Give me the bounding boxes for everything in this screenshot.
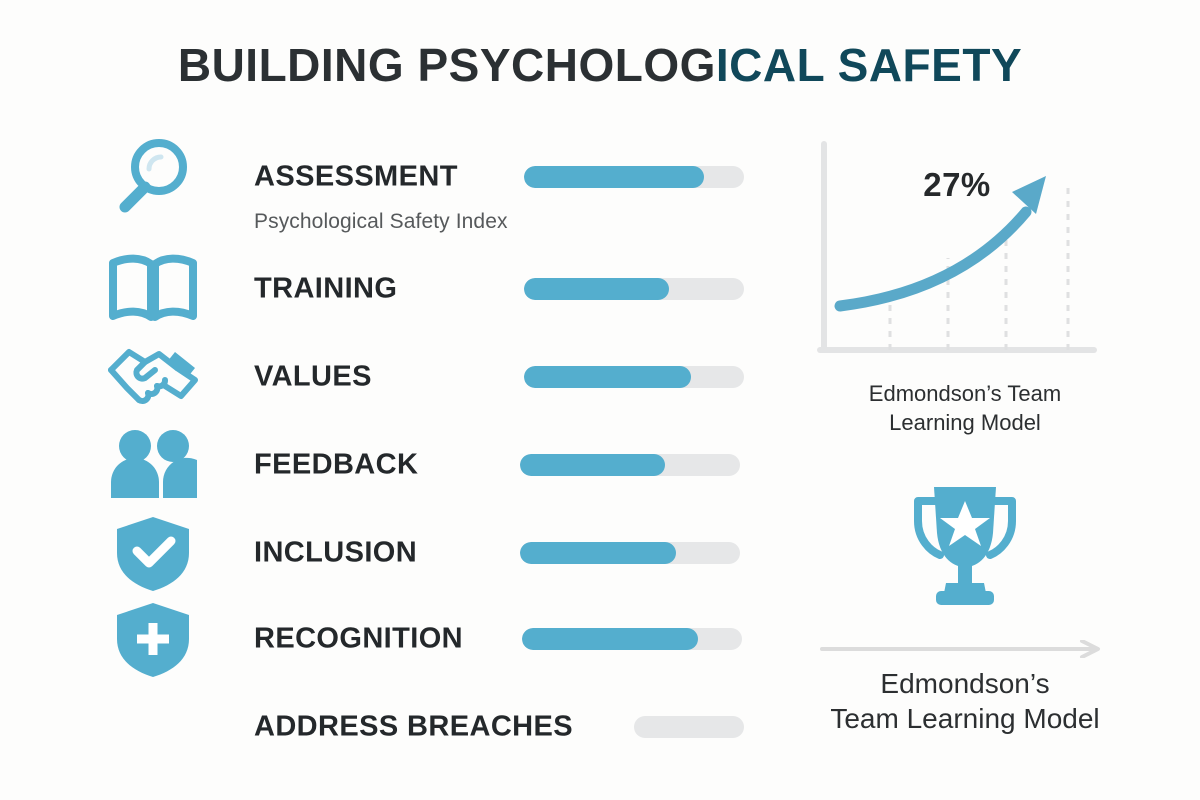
list-item-label: VALUES (254, 361, 372, 394)
list-item-label: TRAINING (254, 273, 397, 306)
list-item-values[interactable]: VALUES (98, 348, 758, 406)
handshake-icon (98, 338, 208, 416)
chart-gridlines (890, 188, 1068, 350)
progress-bar-assessment[interactable] (524, 166, 744, 188)
progress-bar-fill (524, 278, 669, 300)
growth-chart-caption: Edmondson’s Team Learning Model (800, 380, 1130, 437)
shield-check-icon (98, 514, 208, 592)
award-caption-line-2: Team Learning Model (795, 701, 1135, 736)
progress-bar-fill (524, 166, 704, 188)
page-title-part-dark: BUILDING PSYCHOLOG (178, 39, 716, 91)
magnifier-icon (98, 138, 208, 216)
practices-list: ASSESSMENT Psychological Safety Index TR… (98, 132, 758, 752)
page-title-part-accent: ICAL SAFETY (716, 39, 1022, 91)
progress-bar-inclusion[interactable] (520, 542, 740, 564)
progress-bar-feedback[interactable] (520, 454, 740, 476)
award-section (800, 477, 1130, 607)
open-book-icon (98, 250, 208, 328)
progress-bar-fill (520, 454, 665, 476)
right-arrow-icon (818, 640, 1108, 658)
growth-caption-line-1: Edmondson’s Team (800, 380, 1130, 409)
progress-bar-fill (524, 366, 691, 388)
list-item-training[interactable]: TRAINING (98, 260, 758, 318)
progress-bar-address-breaches[interactable] (634, 716, 744, 738)
growth-chart: 27% (814, 140, 1100, 362)
list-item-recognition[interactable]: RECOGNITION (98, 610, 758, 668)
award-caption-line-1: Edmondson’s (795, 666, 1135, 701)
list-item-inclusion[interactable]: INCLUSION (98, 524, 758, 582)
growth-caption-line-2: Learning Model (800, 409, 1130, 438)
page-title: BUILDING PSYCHOLOGICAL SAFETY (0, 42, 1200, 88)
progress-bar-training[interactable] (524, 278, 744, 300)
list-item-label: ASSESSMENT (254, 161, 458, 194)
growth-percent-label: 27% (814, 166, 1100, 204)
progress-bar-fill (522, 628, 698, 650)
list-item-sublabel: Psychological Safety Index (254, 210, 508, 234)
list-item-label: FEEDBACK (254, 449, 418, 482)
chart-growth-curve (840, 212, 1026, 306)
two-people-icon (98, 426, 208, 504)
award-caption: Edmondson’s Team Learning Model (795, 666, 1135, 736)
trophy-icon (906, 477, 1024, 607)
progress-bar-values[interactable] (524, 366, 744, 388)
list-item-address-breaches[interactable]: ADDRESS BREACHES (98, 698, 758, 756)
progress-bar-recognition[interactable] (522, 628, 742, 650)
list-item-feedback[interactable]: FEEDBACK (98, 436, 758, 494)
shield-plus-icon-recognition (98, 600, 208, 678)
list-item-label: RECOGNITION (254, 623, 463, 656)
list-item-label: INCLUSION (254, 537, 417, 570)
page-header: BUILDING PSYCHOLOGICAL SAFETY (0, 42, 1200, 88)
list-item-assessment[interactable]: ASSESSMENT Psychological Safety Index (98, 148, 758, 206)
progress-bar-fill (520, 542, 676, 564)
right-panel: 27% Edmondson’s Team Learning Model (800, 132, 1130, 752)
list-item-label: ADDRESS BREACHES (254, 711, 573, 744)
